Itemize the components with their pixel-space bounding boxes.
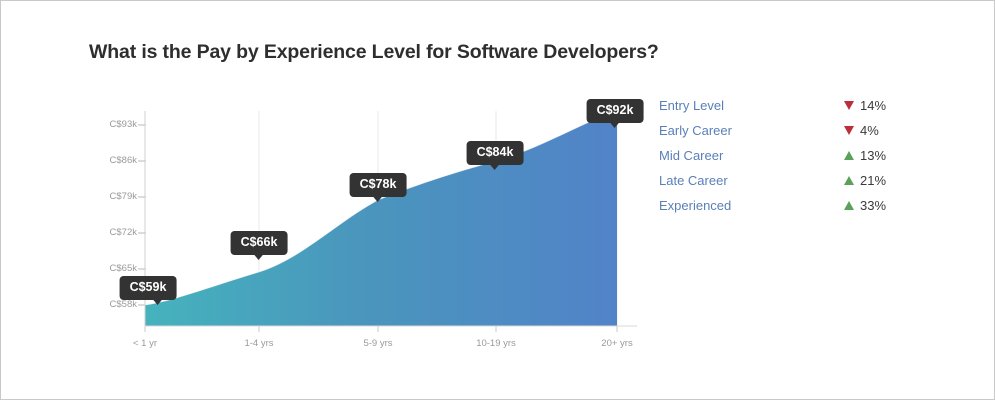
- legend-label: Mid Career: [659, 148, 723, 163]
- x-tick-label: 10-19 yrs: [476, 338, 516, 349]
- chart-legend: Entry Level 14% Early Career 4% Mid Care…: [659, 93, 919, 218]
- arrow-up-icon: [844, 151, 854, 160]
- legend-label: Experienced: [659, 198, 731, 213]
- legend-label: Late Career: [659, 173, 728, 188]
- legend-item-early-career[interactable]: Early Career 4%: [659, 118, 919, 143]
- legend-value-group: 14%: [844, 98, 886, 113]
- x-tick-label: 5-9 yrs: [363, 338, 392, 349]
- legend-value-group: 4%: [844, 123, 879, 138]
- data-label-tooltip[interactable]: C$59k: [120, 276, 177, 300]
- legend-percent: 14%: [860, 98, 886, 113]
- legend-percent: 33%: [860, 198, 886, 213]
- data-label-tooltip[interactable]: C$66k: [231, 231, 288, 255]
- legend-label: Entry Level: [659, 98, 724, 113]
- legend-label: Early Career: [659, 123, 732, 138]
- legend-item-mid-career[interactable]: Mid Career 13%: [659, 143, 919, 168]
- legend-percent: 21%: [860, 173, 886, 188]
- arrow-up-icon: [844, 201, 854, 210]
- legend-percent: 13%: [860, 148, 886, 163]
- x-tick-label: < 1 yr: [133, 338, 157, 349]
- chart-page: What is the Pay by Experience Level for …: [0, 0, 995, 400]
- legend-value-group: 13%: [844, 148, 886, 163]
- legend-item-late-career[interactable]: Late Career 21%: [659, 168, 919, 193]
- arrow-up-icon: [844, 176, 854, 185]
- legend-value-group: 33%: [844, 198, 886, 213]
- x-tick-label: 1-4 yrs: [244, 338, 273, 349]
- data-label-tooltip[interactable]: C$78k: [350, 173, 407, 197]
- arrow-down-icon: [844, 126, 854, 135]
- legend-percent: 4%: [860, 123, 879, 138]
- data-label-tooltip[interactable]: C$84k: [467, 141, 524, 165]
- legend-item-experienced[interactable]: Experienced 33%: [659, 193, 919, 218]
- legend-item-entry-level[interactable]: Entry Level 14%: [659, 93, 919, 118]
- x-tick-label: 20+ yrs: [601, 338, 632, 349]
- data-label-tooltip[interactable]: C$92k: [587, 99, 644, 123]
- legend-value-group: 21%: [844, 173, 886, 188]
- arrow-down-icon: [844, 101, 854, 110]
